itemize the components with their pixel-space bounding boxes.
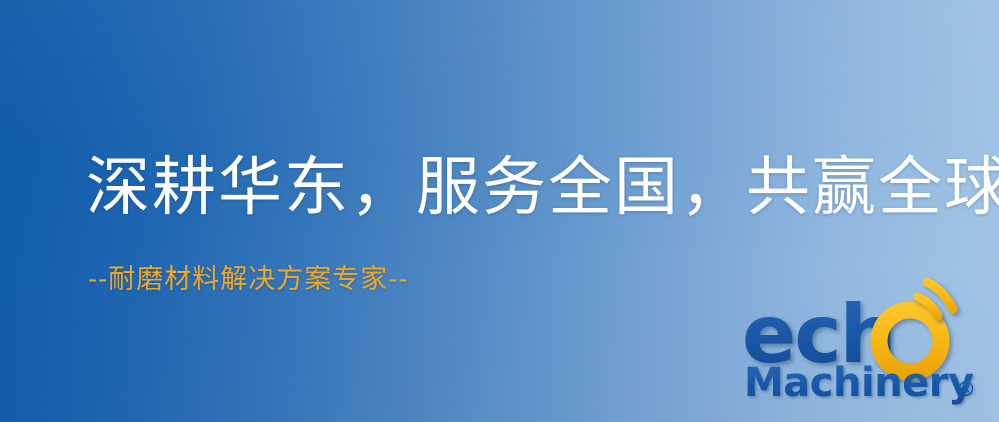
banner-subtitle: --耐磨材料解决方案专家--	[88, 264, 409, 296]
svg-text:Machinery: Machinery	[744, 360, 974, 406]
logo-wordmark-machinery: Machinery ®	[744, 360, 994, 406]
banner-headline: 深耕华东，服务全国，共赢全球	[86, 152, 999, 224]
echo-machinery-logo[interactable]: ech	[742, 298, 994, 420]
svg-text:®: ®	[956, 377, 976, 401]
promo-banner: 深耕华东，服务全国，共赢全球 --耐磨材料解决方案专家--	[0, 0, 999, 422]
